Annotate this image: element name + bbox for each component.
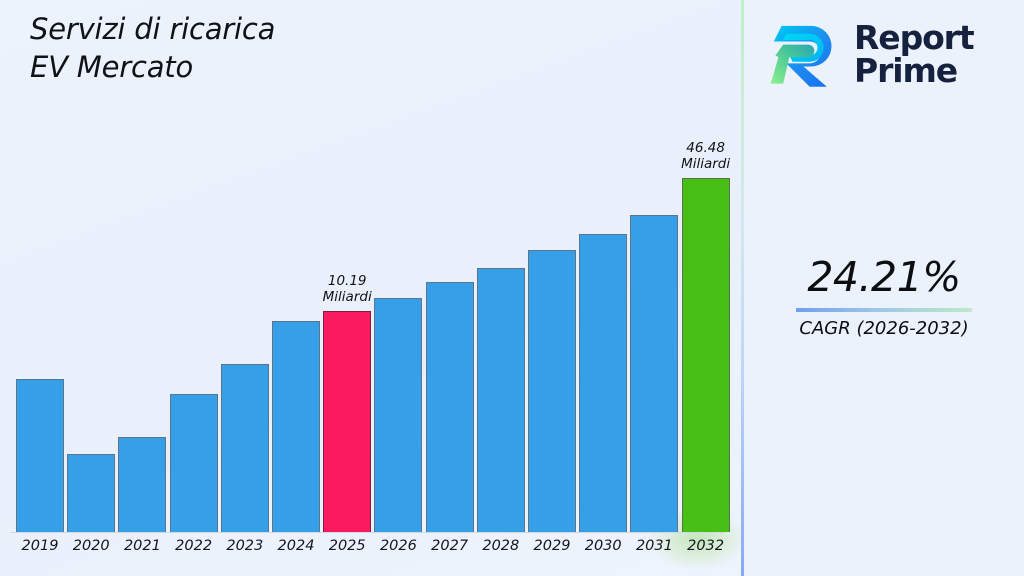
x-axis-line — [10, 532, 725, 533]
x-axis-label-2021: 2021 — [114, 538, 170, 554]
x-axis-label-2030: 2030 — [575, 538, 631, 554]
bar-2025[interactable]: 10.19 Miliardi — [323, 311, 371, 532]
x-axis-label-2023: 2023 — [217, 538, 273, 554]
x-axis-label-2026: 2026 — [370, 538, 426, 554]
cagr-value: 24.21% — [760, 252, 1008, 302]
bar-2031[interactable] — [630, 215, 678, 532]
bar-rect-2022[interactable] — [170, 394, 218, 532]
x-axis-label-2028: 2028 — [473, 538, 529, 554]
bar-rect-2031[interactable] — [630, 215, 678, 532]
x-axis-label-2024: 2024 — [268, 538, 324, 554]
cagr-block: 24.21% CAGR (2026-2032) — [760, 252, 1008, 341]
bar-rect-2023[interactable] — [221, 364, 269, 532]
x-axis-label-2031: 2031 — [626, 538, 682, 554]
chart-panel: Servizi di ricarica EV Mercato 201920202… — [0, 0, 741, 576]
brand-logo-block: Report Prime — [766, 12, 1012, 96]
bar-rect-2024[interactable] — [272, 321, 320, 532]
x-axis-label-2032: 2032 — [678, 538, 734, 554]
brand-name: Report Prime — [854, 21, 974, 87]
bar-2023[interactable] — [221, 364, 269, 532]
brand-panel: Report Prime 24.21% CAGR (2026-2032) — [744, 0, 1024, 576]
x-axis-label-2025: 2025 — [319, 538, 375, 554]
bar-rect-2027[interactable] — [426, 282, 474, 532]
bar-rect-2019[interactable] — [16, 379, 64, 532]
bar-2032[interactable]: 46.48 Miliardi — [682, 178, 730, 532]
bar-rect-2028[interactable] — [477, 268, 525, 532]
bar-2020[interactable] — [67, 454, 115, 532]
bar-2029[interactable] — [528, 250, 576, 532]
x-axis-label-2019: 2019 — [12, 538, 68, 554]
bar-rect-2030[interactable] — [579, 234, 627, 532]
bar-rect-2032[interactable] — [682, 178, 730, 532]
bar-2022[interactable] — [170, 394, 218, 532]
x-axis-label-2020: 2020 — [63, 538, 119, 554]
cagr-divider-rule — [796, 308, 972, 312]
bar-2021[interactable] — [118, 437, 166, 532]
bar-value-label-2032: 46.48 Miliardi — [646, 140, 741, 172]
bar-rect-2025[interactable] — [323, 311, 371, 532]
bar-rect-2029[interactable] — [528, 250, 576, 532]
bar-2026[interactable] — [374, 298, 422, 532]
bar-rect-2026[interactable] — [374, 298, 422, 532]
cagr-caption: CAGR (2026-2032) — [760, 317, 1008, 341]
bar-2030[interactable] — [579, 234, 627, 532]
bar-2024[interactable] — [272, 321, 320, 532]
x-axis-label-2027: 2027 — [422, 538, 478, 554]
bar-2027[interactable] — [426, 282, 474, 532]
bar-2019[interactable] — [16, 379, 64, 532]
bar-chart-plot-area: 20192020202120222023202410.19 Miliardi20… — [0, 0, 741, 576]
infographic-root: Servizi di ricarica EV Mercato 201920202… — [0, 0, 1024, 576]
x-axis-label-2022: 2022 — [166, 538, 222, 554]
bar-rect-2020[interactable] — [67, 454, 115, 532]
bar-2028[interactable] — [477, 268, 525, 532]
x-axis-label-2029: 2029 — [524, 538, 580, 554]
report-prime-logo-icon — [766, 15, 844, 93]
bar-rect-2021[interactable] — [118, 437, 166, 532]
